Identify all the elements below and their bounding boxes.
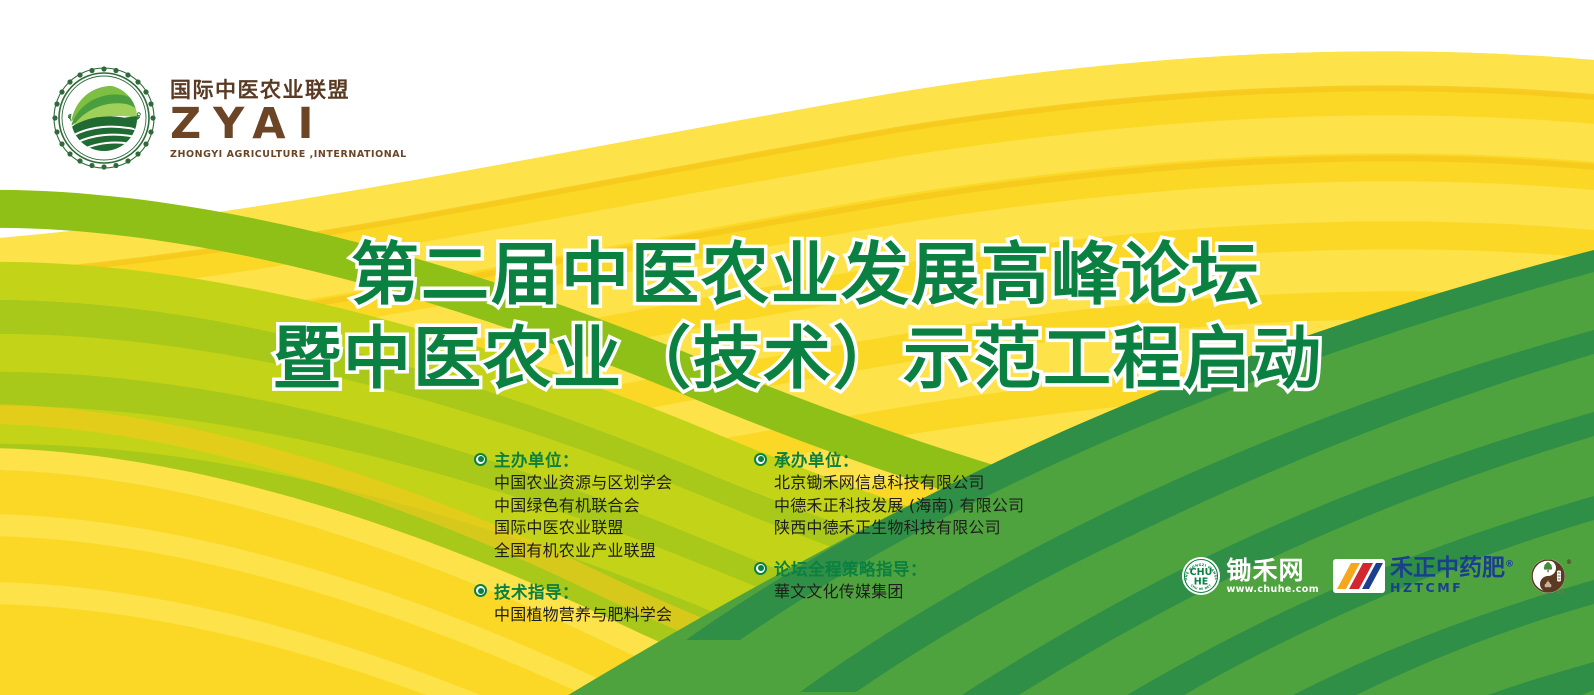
svg-text:ao: ao: [1557, 589, 1565, 596]
info-heading-row: 论坛全程策略指导：: [754, 556, 1054, 580]
info-item-list: 華文文化传媒集团: [754, 581, 1054, 604]
tree-yinyang-seal-icon: ® ao: [1528, 554, 1572, 598]
info-item-list: 中国农业资源与区划学会 中国绿色有机联合会 国际中医农业联盟 全国有机农业产业联…: [474, 472, 736, 563]
org-acronym: ZYAI: [170, 103, 407, 147]
info-group-host: 主办单位： 中国农业资源与区划学会 中国绿色有机联合会 国际中医农业联盟 全国有…: [474, 447, 736, 563]
sponsor-tree-seal: ® ao: [1528, 554, 1572, 598]
hzt-wordmark: 禾正中药肥® HZTCMF: [1390, 557, 1514, 595]
bullet-target-icon: [754, 453, 767, 466]
brand-wordmark: 国际中医农业联盟 ZYAI ZHONGYI AGRICULTURE ,INTER…: [170, 76, 407, 159]
info-heading-row: 主办单位：: [474, 447, 736, 471]
list-item: 中国植物营养与肥料学会: [494, 604, 736, 627]
sponsor-hzt: 禾正中药肥® HZTCMF: [1333, 557, 1514, 595]
list-item: 陕西中德禾正生物科技有限公司: [774, 517, 1054, 540]
chuhe-name-cn: 锄禾网: [1226, 558, 1319, 583]
bullet-target-icon: [754, 562, 767, 575]
info-column-2: 承办单位： 北京锄禾网信息科技有限公司 中德禾正科技发展 (海南) 有限公司 陕…: [754, 447, 1054, 627]
list-item: 中德禾正科技发展 (海南) 有限公司: [774, 495, 1054, 518]
info-heading: 论坛全程策略指导：: [774, 556, 927, 580]
poster-canvas: 国际中医农业联盟 ZHONGYI AGRICULTURE .INTERNATIO…: [0, 0, 1594, 695]
info-group-strategy-guidance: 论坛全程策略指导： 華文文化传媒集团: [754, 556, 1054, 604]
info-group-co-organizer: 承办单位： 北京锄禾网信息科技有限公司 中德禾正科技发展 (海南) 有限公司 陕…: [754, 447, 1054, 540]
info-item-list: 中国植物营养与肥料学会: [474, 604, 736, 627]
bullet-target-icon: [474, 584, 487, 597]
sponsor-logo-strip: CHUHE NONGZI WANGLUO CHU HE NET CHU HE 锄…: [1181, 554, 1572, 598]
list-item: 北京锄禾网信息科技有限公司: [774, 472, 1054, 495]
org-name-cn: 国际中医农业联盟: [170, 80, 407, 101]
info-heading-row: 技术指导：: [474, 579, 736, 603]
organizer-info: 主办单位： 中国农业资源与区划学会 中国绿色有机联合会 国际中医农业联盟 全国有…: [474, 447, 1054, 627]
list-item: 中国绿色有机联合会: [494, 495, 736, 518]
bullet-target-icon: [474, 453, 487, 466]
hzt-stripes-icon: [1333, 559, 1385, 593]
sponsor-chuhe: CHUHE NONGZI WANGLUO CHU HE NET CHU HE 锄…: [1181, 556, 1319, 596]
chuhe-seal-icon: CHUHE NONGZI WANGLUO CHU HE NET CHU HE: [1181, 556, 1221, 596]
info-heading: 主办单位：: [494, 447, 579, 471]
zyai-seal-icon: 国际中医农业联盟 ZHONGYI AGRICULTURE .INTERNATIO…: [52, 66, 156, 170]
list-item: 全国有机农业产业联盟: [494, 540, 736, 563]
hzt-name-cn-text: 禾正中药肥: [1390, 555, 1505, 581]
list-item: 国际中医农业联盟: [494, 517, 736, 540]
info-column-1: 主办单位： 中国农业资源与区划学会 中国绿色有机联合会 国际中医农业联盟 全国有…: [474, 447, 736, 627]
info-group-technical-guidance: 技术指导： 中国植物营养与肥料学会: [474, 579, 736, 627]
registered-mark-icon: ®: [1505, 560, 1514, 570]
list-item: 中国农业资源与区划学会: [494, 472, 736, 495]
list-item: 華文文化传媒集团: [774, 581, 1054, 604]
chuhe-url: www.chuhe.com: [1226, 585, 1319, 595]
registered-mark-icon: ®: [1566, 559, 1572, 566]
org-name-en: ZHONGYI AGRICULTURE ,INTERNATIONAL: [170, 150, 407, 160]
info-heading: 技术指导：: [494, 579, 579, 603]
hzt-name-cn: 禾正中药肥®: [1390, 557, 1514, 580]
info-heading-row: 承办单位：: [754, 447, 1054, 471]
chuhe-wordmark: 锄禾网 www.chuhe.com: [1226, 558, 1319, 595]
info-heading: 承办单位：: [774, 447, 859, 471]
hzt-name-en: HZTCMF: [1390, 582, 1514, 595]
svg-text:HE: HE: [1194, 577, 1208, 588]
info-item-list: 北京锄禾网信息科技有限公司 中德禾正科技发展 (海南) 有限公司 陕西中德禾正生…: [754, 472, 1054, 540]
brand-logo-lockup: 国际中医农业联盟 ZHONGYI AGRICULTURE .INTERNATIO…: [52, 66, 407, 170]
